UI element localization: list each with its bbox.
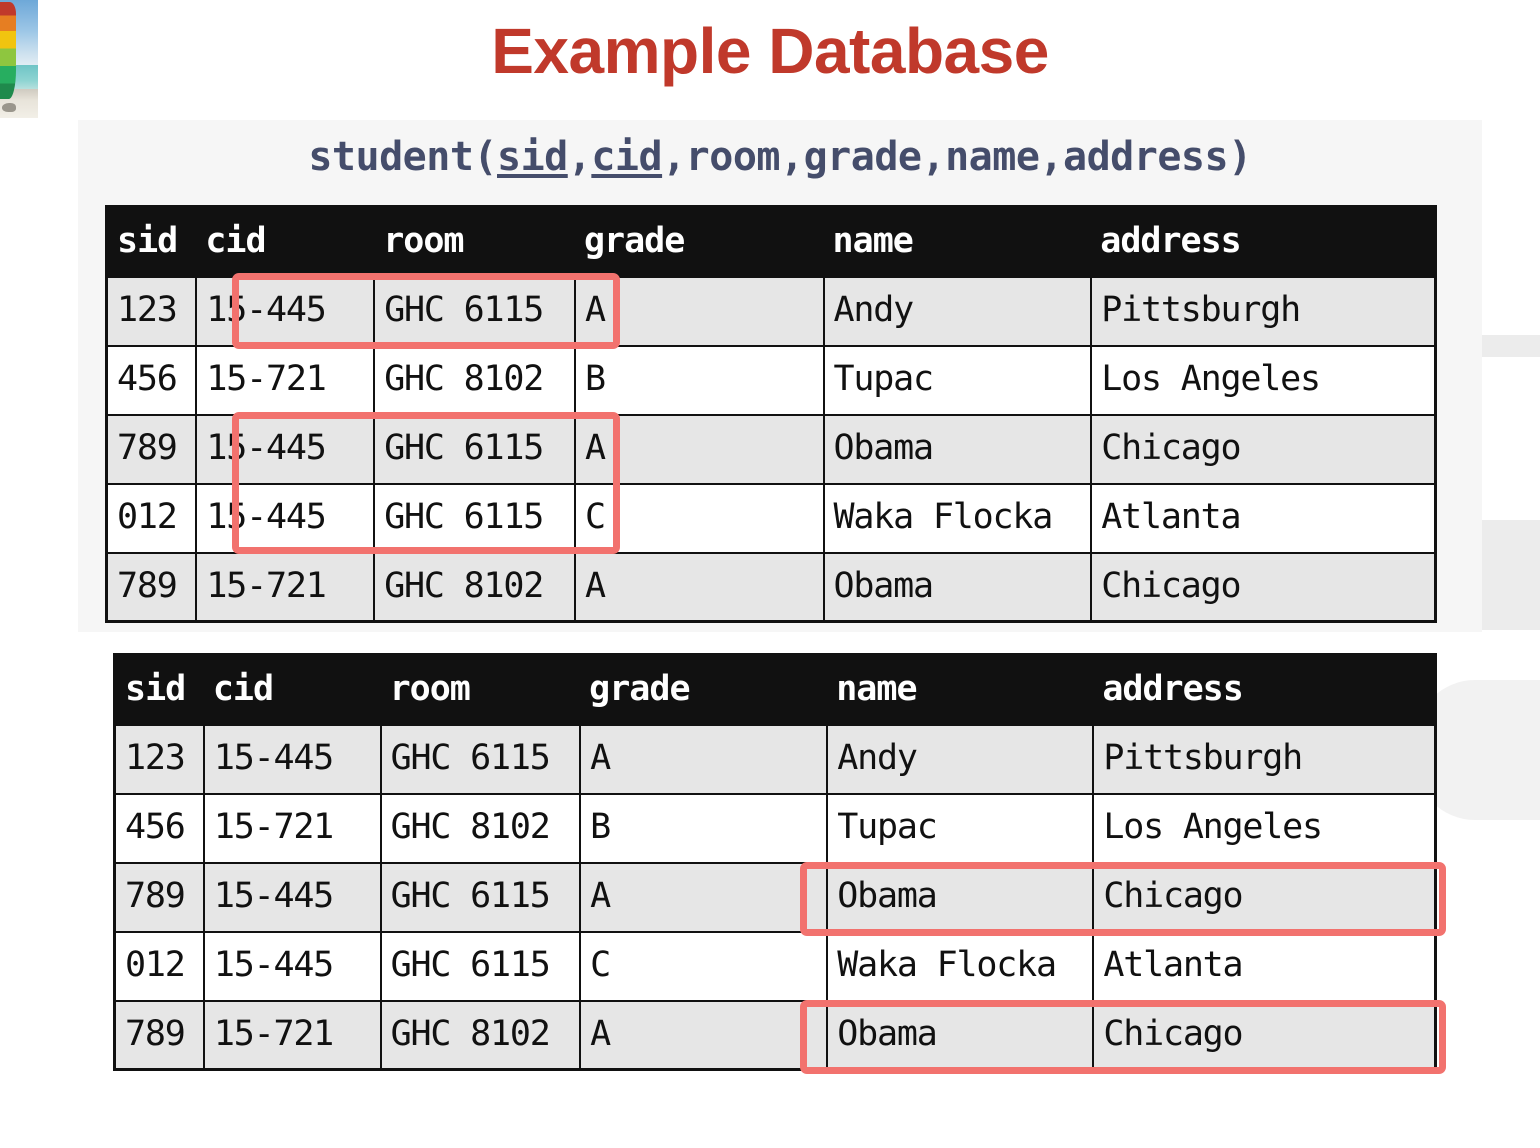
cell-room: GHC 6115 — [381, 863, 581, 932]
cell-sid: 012 — [115, 932, 204, 1001]
cell-sid: 456 — [107, 346, 197, 415]
cell-grade: A — [580, 863, 827, 932]
cell-sid: 123 — [115, 725, 204, 794]
table-row: 123 15-445 GHC 6115 A Andy Pittsburgh — [107, 277, 1436, 346]
cell-address: Chicago — [1091, 553, 1435, 622]
cell-name: Obama — [827, 863, 1093, 932]
table-row: 789 15-445 GHC 6115 A Obama Chicago — [115, 863, 1436, 932]
cell-cid: 15-445 — [204, 863, 381, 932]
cell-grade: A — [580, 725, 827, 794]
table-2-header-row: sid cid room grade name address — [115, 655, 1436, 725]
column-header-sid: sid — [107, 207, 197, 277]
schema-key-cid: cid — [591, 134, 662, 180]
column-header-sid: sid — [115, 655, 204, 725]
cell-address: Chicago — [1091, 415, 1435, 484]
table-2-body: 123 15-445 GHC 6115 A Andy Pittsburgh 45… — [115, 725, 1436, 1070]
table-2-header: sid cid room grade name address — [115, 655, 1436, 725]
cell-sid: 123 — [107, 277, 197, 346]
cell-sid: 789 — [107, 553, 197, 622]
cell-grade: C — [580, 932, 827, 1001]
cell-name: Obama — [824, 415, 1092, 484]
cell-address: Los Angeles — [1093, 794, 1435, 863]
schema-key-sid: sid — [497, 134, 568, 180]
cell-address: Atlanta — [1091, 484, 1435, 553]
table-1-body: 123 15-445 GHC 6115 A Andy Pittsburgh 45… — [107, 277, 1436, 622]
student-table-bottom: sid cid room grade name address 123 15-4… — [113, 653, 1437, 1071]
cell-address: Pittsburgh — [1093, 725, 1435, 794]
cell-sid: 456 — [115, 794, 204, 863]
cell-grade: B — [580, 794, 827, 863]
cell-grade: A — [575, 415, 824, 484]
schema-signature: student(sid,cid,room,grade,name,address) — [78, 134, 1482, 180]
cell-cid: 15-721 — [204, 1001, 381, 1070]
cell-name: Andy — [827, 725, 1093, 794]
table-row: 012 15-445 GHC 6115 C Waka Flocka Atlant… — [107, 484, 1436, 553]
cell-address: Atlanta — [1093, 932, 1435, 1001]
table-row: 456 15-721 GHC 8102 B Tupac Los Angeles — [107, 346, 1436, 415]
schema-separator: , — [568, 134, 592, 180]
schema-prefix: student( — [308, 134, 497, 180]
table-row: 123 15-445 GHC 6115 A Andy Pittsburgh — [115, 725, 1436, 794]
table-row: 012 15-445 GHC 6115 C Waka Flocka Atlant… — [115, 932, 1436, 1001]
cell-name: Tupac — [824, 346, 1092, 415]
column-header-name: name — [824, 207, 1092, 277]
column-header-room: room — [374, 207, 575, 277]
cell-name: Andy — [824, 277, 1092, 346]
cell-name: Waka Flocka — [827, 932, 1093, 1001]
cell-sid: 012 — [107, 484, 197, 553]
cell-cid: 15-721 — [196, 346, 374, 415]
student-table-top: sid cid room grade name address 123 15-4… — [105, 205, 1437, 623]
cell-cid: 15-445 — [204, 932, 381, 1001]
cell-address: Los Angeles — [1091, 346, 1435, 415]
cell-room: GHC 8102 — [374, 346, 575, 415]
cell-room: GHC 8102 — [381, 1001, 581, 1070]
cell-address: Pittsburgh — [1091, 277, 1435, 346]
cell-grade: B — [575, 346, 824, 415]
cell-name: Obama — [824, 553, 1092, 622]
cell-cid: 15-445 — [196, 277, 374, 346]
rock-shape — [2, 103, 16, 112]
column-header-address: address — [1093, 655, 1435, 725]
cell-cid: 15-721 — [204, 794, 381, 863]
cell-name: Obama — [827, 1001, 1093, 1070]
cell-cid: 15-445 — [196, 484, 374, 553]
column-header-cid: cid — [204, 655, 381, 725]
cell-room: GHC 8102 — [374, 553, 575, 622]
column-header-grade: grade — [575, 207, 824, 277]
cell-grade: C — [575, 484, 824, 553]
column-header-grade: grade — [580, 655, 827, 725]
schema-rest: ,room,grade,name,address) — [662, 134, 1252, 180]
cell-sid: 789 — [115, 1001, 204, 1070]
cell-room: GHC 6115 — [381, 932, 581, 1001]
cell-room: GHC 6115 — [381, 725, 581, 794]
cell-grade: A — [575, 277, 824, 346]
table-1-header: sid cid room grade name address — [107, 207, 1436, 277]
page-title: Example Database — [0, 14, 1540, 88]
table-row: 789 15-445 GHC 6115 A Obama Chicago — [107, 415, 1436, 484]
column-header-address: address — [1091, 207, 1435, 277]
cell-room: GHC 6115 — [374, 484, 575, 553]
column-header-room: room — [381, 655, 581, 725]
slide-canvas: Example Database student(sid,cid,room,gr… — [0, 0, 1540, 1148]
cell-grade: A — [580, 1001, 827, 1070]
cell-grade: A — [575, 553, 824, 622]
cell-sid: 789 — [107, 415, 197, 484]
column-header-cid: cid — [196, 207, 374, 277]
cell-cid: 15-721 — [196, 553, 374, 622]
table-row: 789 15-721 GHC 8102 A Obama Chicago — [107, 553, 1436, 622]
cell-name: Waka Flocka — [824, 484, 1092, 553]
column-header-name: name — [827, 655, 1093, 725]
cell-cid: 15-445 — [204, 725, 381, 794]
cell-room: GHC 6115 — [374, 277, 575, 346]
cell-address: Chicago — [1093, 863, 1435, 932]
cell-room: GHC 8102 — [381, 794, 581, 863]
table-row: 456 15-721 GHC 8102 B Tupac Los Angeles — [115, 794, 1436, 863]
table-row: 789 15-721 GHC 8102 A Obama Chicago — [115, 1001, 1436, 1070]
cell-name: Tupac — [827, 794, 1093, 863]
cell-sid: 789 — [115, 863, 204, 932]
cell-room: GHC 6115 — [374, 415, 575, 484]
table-1-header-row: sid cid room grade name address — [107, 207, 1436, 277]
cell-address: Chicago — [1093, 1001, 1435, 1070]
cell-cid: 15-445 — [196, 415, 374, 484]
